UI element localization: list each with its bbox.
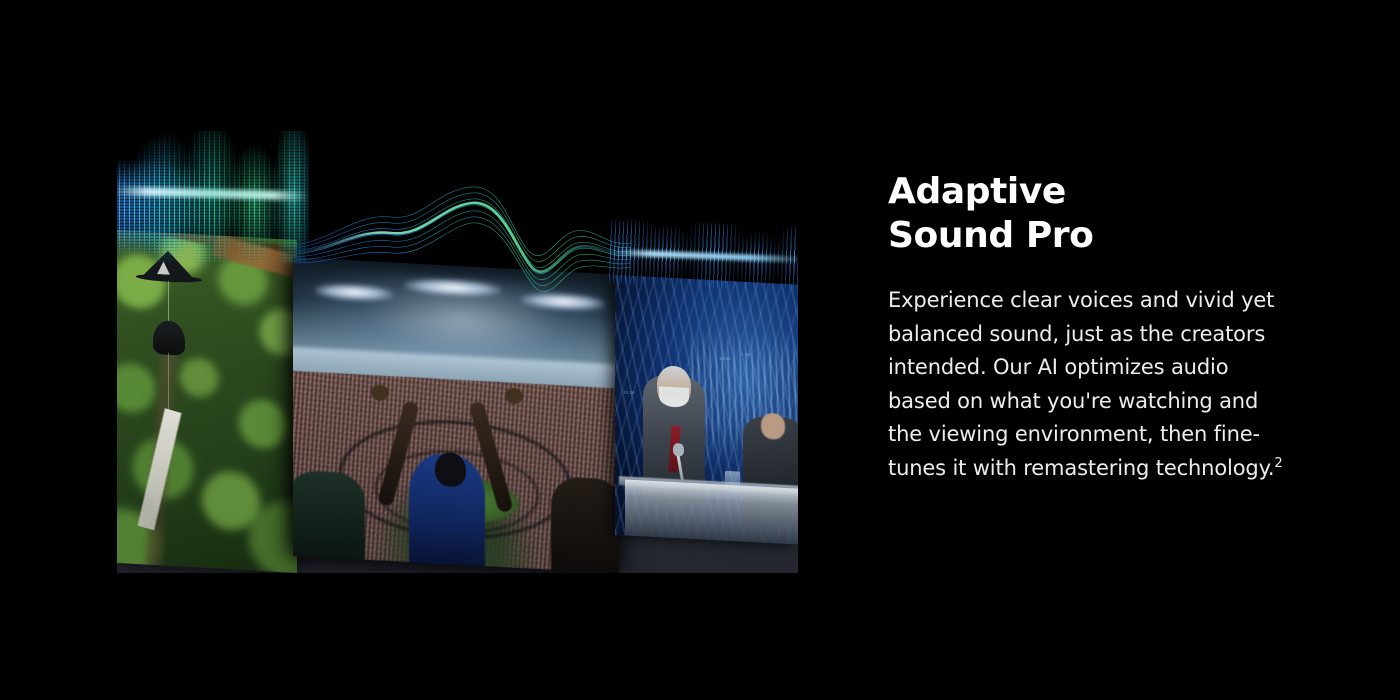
studio-ticker-text: 13.40: [719, 356, 731, 362]
feature-description: Experience clear voices and vivid yet ba…: [888, 284, 1288, 485]
studio-ticker-text: +.29: [741, 352, 751, 357]
raised-fist: [371, 384, 389, 401]
microphone-icon: [673, 443, 684, 457]
chime-thread: [168, 281, 169, 323]
tv-panel-news: 10.26 13.40 +.29 8.21: [615, 275, 798, 545]
page-title: Adaptive Sound Pro: [888, 170, 1308, 258]
tv-panel-stadium: [293, 257, 619, 573]
fan-silhouette: [551, 476, 619, 573]
adaptive-sound-pro-feature: 10.26 13.40 +.29 8.21: [0, 0, 1400, 700]
fan-head-silhouette: [435, 452, 466, 488]
studio-desk: [625, 480, 798, 545]
feature-media-panel: 10.26 13.40 +.29 8.21: [117, 127, 798, 573]
guest-hand: [761, 413, 785, 440]
raised-fist: [505, 387, 523, 404]
studio-ticker-text: 10.26: [623, 390, 635, 396]
feature-description-text: Experience clear voices and vivid yet ba…: [888, 288, 1274, 480]
tv-panel-nature: [117, 230, 297, 573]
chime-tail-thread: [168, 353, 169, 411]
sound-waveform-mesh: [295, 173, 631, 293]
footnote-marker: 2: [1274, 456, 1282, 471]
feature-copy-block: Adaptive Sound Pro Experience clear voic…: [888, 170, 1308, 485]
fan-silhouette: [293, 470, 365, 570]
tv-wall-scene: 10.26 13.40 +.29 8.21: [117, 127, 798, 573]
